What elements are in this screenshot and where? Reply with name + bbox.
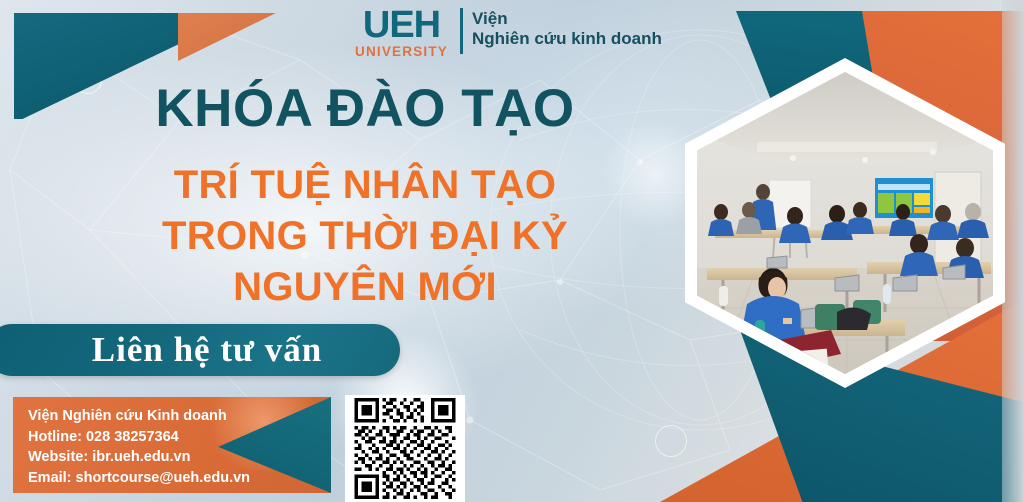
- contact-cta-button[interactable]: Liên hệ tư vấn: [0, 324, 400, 376]
- qr-code[interactable]: [345, 395, 465, 502]
- background-ring-2: [655, 425, 687, 457]
- contact-info-text: Viện Nghiên cứu Kinh doanh Hotline: 028 …: [28, 406, 250, 488]
- ueh-logo-main: UEH: [363, 6, 440, 44]
- right-edge-strip: [1002, 0, 1024, 502]
- ueh-wordmark: UEH UNIVERSITY: [355, 6, 448, 59]
- ueh-logo-sub: UNIVERSITY: [355, 45, 448, 59]
- institute-name-line1: Viện: [472, 9, 662, 29]
- promotional-banner: UEH UNIVERSITY Viện Nghiên cứu kinh doan…: [0, 0, 1024, 502]
- sub-heading: TRÍ TUỆ NHÂN TẠO TRONG THỜI ĐẠI KỶ NGUYÊ…: [95, 160, 635, 314]
- corner-shape-top-left-orange: [178, 13, 276, 61]
- contact-org: Viện Nghiên cứu Kinh doanh: [28, 406, 250, 427]
- main-heading: KHÓA ĐÀO TẠO: [95, 82, 635, 135]
- ueh-logo: UEH UNIVERSITY Viện Nghiên cứu kinh doan…: [355, 6, 662, 59]
- contact-website[interactable]: Website: ibr.ueh.edu.vn: [28, 447, 250, 468]
- contact-cta-label: Liên hệ tư vấn: [64, 330, 322, 370]
- qr-code-image: [348, 398, 462, 499]
- contact-hotline[interactable]: Hotline: 028 38257364: [28, 427, 250, 448]
- logo-divider: [460, 8, 463, 54]
- contact-info-block: Viện Nghiên cứu Kinh doanh Hotline: 028 …: [13, 397, 331, 493]
- contact-email[interactable]: Email: shortcourse@ueh.edu.vn: [28, 468, 250, 489]
- institute-name: Viện Nghiên cứu kinh doanh: [472, 6, 662, 49]
- sub-heading-line2: TRONG THỜI ĐẠI KỶ: [95, 211, 635, 262]
- sub-heading-line1: TRÍ TUỆ NHÂN TẠO: [95, 160, 635, 211]
- sub-heading-line3: NGUYÊN MỚI: [95, 262, 635, 313]
- institute-name-line2: Nghiên cứu kinh doanh: [472, 29, 662, 49]
